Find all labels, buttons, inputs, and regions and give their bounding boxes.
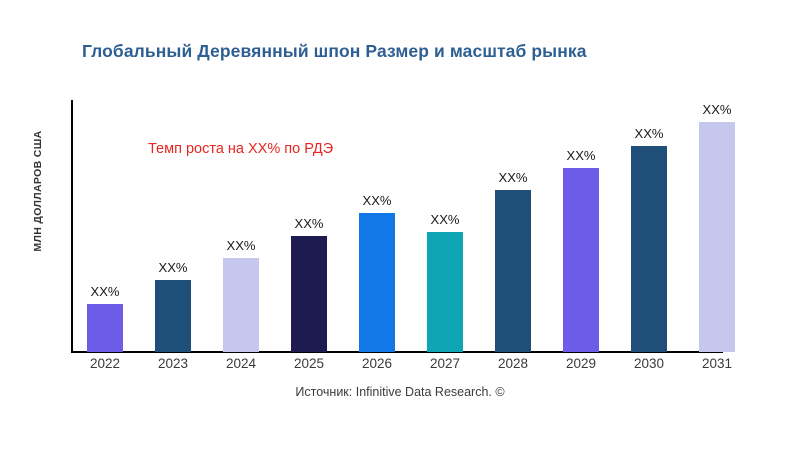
plot-area: XX%2022XX%2023XX%2024XX%2025XX%2026XX%20…: [71, 100, 800, 352]
bar-2022[interactable]: [87, 304, 123, 352]
bar-group-2023[interactable]: XX%2023: [139, 100, 207, 352]
x-tick-2026: 2026: [362, 356, 392, 371]
x-tick-2024: 2024: [226, 356, 256, 371]
x-tick-2027: 2027: [430, 356, 460, 371]
bar-group-2024[interactable]: XX%2024: [207, 100, 275, 352]
bar-chart: Глобальный Деревянный шпон Размер и масш…: [0, 0, 800, 450]
bar-value-label-2026: XX%: [363, 193, 392, 208]
bar-group-2025[interactable]: XX%2025: [275, 100, 343, 352]
x-tick-2029: 2029: [566, 356, 596, 371]
bar-value-label-2030: XX%: [635, 126, 664, 141]
bar-group-2022[interactable]: XX%2022: [71, 100, 139, 352]
bar-2023[interactable]: [155, 280, 191, 352]
bar-value-label-2029: XX%: [567, 148, 596, 163]
x-tick-2022: 2022: [90, 356, 120, 371]
x-tick-2031: 2031: [702, 356, 732, 371]
bar-group-2027[interactable]: XX%2027: [411, 100, 479, 352]
growth-rate-annotation: Темп роста на XX% по РДЭ: [148, 141, 333, 157]
bar-group-2026[interactable]: XX%2026: [343, 100, 411, 352]
x-tick-2025: 2025: [294, 356, 324, 371]
bar-group-2028[interactable]: XX%2028: [479, 100, 547, 352]
bar-2028[interactable]: [495, 190, 531, 352]
bar-2031[interactable]: [699, 122, 735, 352]
y-axis-label: МЛН ДОЛЛАРОВ США: [32, 61, 44, 321]
bar-value-label-2031: XX%: [703, 102, 732, 117]
bar-value-label-2022: XX%: [91, 284, 120, 299]
bar-2026[interactable]: [359, 213, 395, 352]
chart-title: Глобальный Деревянный шпон Размер и масш…: [82, 41, 587, 62]
bar-value-label-2024: XX%: [227, 238, 256, 253]
bar-2030[interactable]: [631, 146, 667, 352]
bar-value-label-2027: XX%: [431, 212, 460, 227]
bar-2029[interactable]: [563, 168, 599, 352]
x-tick-2028: 2028: [498, 356, 528, 371]
bar-2024[interactable]: [223, 258, 259, 352]
x-tick-2023: 2023: [158, 356, 188, 371]
bar-2027[interactable]: [427, 232, 463, 352]
bar-value-label-2023: XX%: [159, 260, 188, 275]
bar-value-label-2025: XX%: [295, 216, 324, 231]
bar-2025[interactable]: [291, 236, 327, 352]
source-note: Источник: Infinitive Data Research. ©: [0, 385, 800, 399]
x-tick-2030: 2030: [634, 356, 664, 371]
bar-group-2030[interactable]: XX%2030: [615, 100, 683, 352]
bar-group-2031[interactable]: XX%2031: [683, 100, 751, 352]
bar-value-label-2028: XX%: [499, 170, 528, 185]
bar-group-2029[interactable]: XX%2029: [547, 100, 615, 352]
